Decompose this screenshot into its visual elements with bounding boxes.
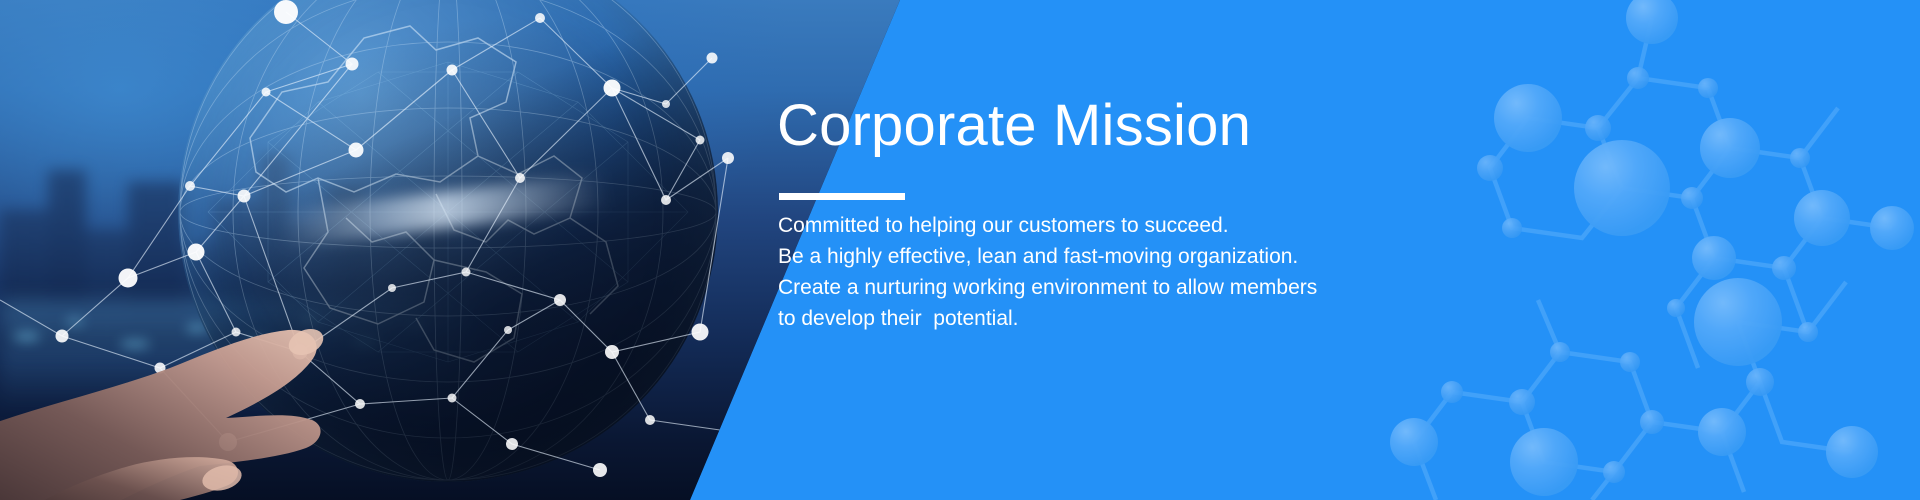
corporate-mission-banner: Corporate Mission Committed to helping o… [0, 0, 1920, 500]
mission-line: Create a nurturing working environment t… [778, 272, 1478, 303]
mission-line: Be a highly effective, lean and fast-mov… [778, 241, 1478, 272]
title-divider [779, 193, 905, 200]
hand-pointing [0, 290, 440, 500]
mission-line: Committed to helping our customers to su… [778, 210, 1478, 241]
mission-text-block: Corporate Mission Committed to helping o… [777, 0, 1477, 500]
mission-line: to develop their potential. [778, 303, 1478, 334]
page-title: Corporate Mission [777, 96, 1251, 157]
mission-statement-list: Committed to helping our customers to su… [778, 210, 1478, 334]
